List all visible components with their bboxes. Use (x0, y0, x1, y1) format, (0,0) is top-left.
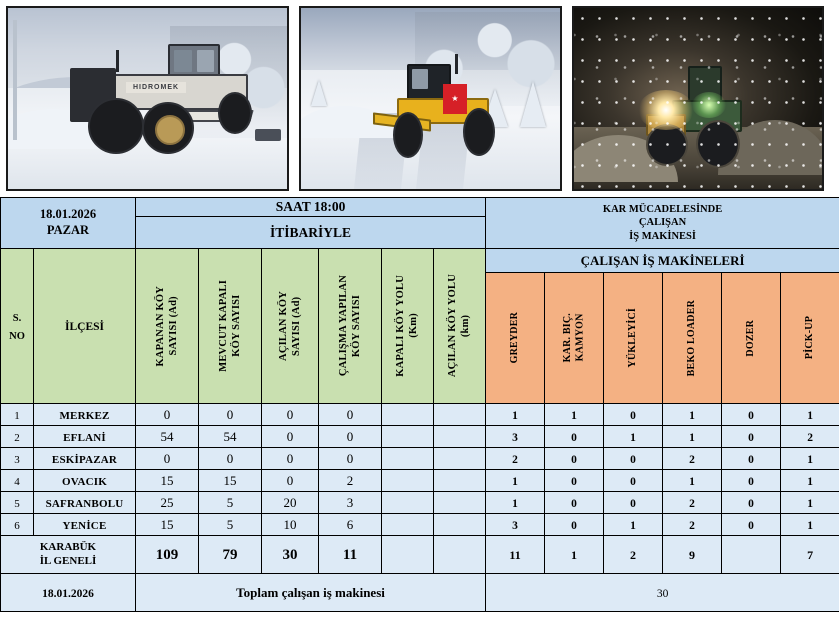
cell-mevcut-kapali-koy: 0 (199, 404, 262, 426)
report-table-wrapper: 18.01.2026 PAZAR SAAT 18:00 KAR MÜCADELE… (0, 197, 839, 612)
cell-calisma-yapilan-koy: 0 (319, 448, 382, 470)
table-row: 5 SAFRANBOLU 25 5 20 3 1 0 0 2 0 1 (1, 492, 839, 514)
date-cell: 18.01.2026 PAZAR (1, 198, 136, 249)
cell-dozer: 0 (722, 514, 781, 536)
total-kapali-koy-yolu (382, 536, 434, 574)
total-label-line2: İL GENELİ (1, 555, 135, 569)
cell-pick-up: 1 (781, 514, 839, 536)
col-header-kapanan-koy-sayisi: KAPANAN KÖY SAYISI (Ad) (136, 249, 199, 404)
cell-greyder: 1 (486, 492, 545, 514)
right-title-line2: ÇALIŞAN (486, 216, 839, 230)
table-row: 3 ESKİPAZAR 0 0 0 0 2 0 0 2 0 1 (1, 448, 839, 470)
front-wheel (218, 92, 252, 134)
col-header-greyder: GREYDER (486, 273, 545, 404)
cell-greyder: 3 (486, 514, 545, 536)
total-label-line1: KARABÜK (1, 541, 135, 555)
cell-ilce: OVACIK (34, 470, 136, 492)
cell-pick-up: 1 (781, 492, 839, 514)
cell-kar-bic-kamyon: 0 (545, 448, 604, 470)
cell-kapali-koy-yolu (382, 470, 434, 492)
machines-group-label-cell: ÇALIŞAN İŞ MAKİNELERİ (486, 249, 839, 273)
distant-vehicle (255, 129, 281, 141)
photo-yellow-grader-snowy-forest-road: ★ (299, 6, 562, 191)
total-pick-up: 7 (781, 536, 839, 574)
cell-beko-loader: 1 (663, 404, 722, 426)
cell-dozer: 0 (722, 426, 781, 448)
cell-dozer: 0 (722, 404, 781, 426)
cell-sno: 4 (1, 470, 34, 492)
col-header-kar-bic-kamyon: KAR. BIÇ. KAMYON (545, 273, 604, 404)
cell-kar-bic-kamyon: 0 (545, 470, 604, 492)
cell-yukleyici: 0 (604, 470, 663, 492)
cell-acilan-koy-yolu (434, 514, 486, 536)
total-acilan-koy: 30 (262, 536, 319, 574)
cell-kar-bic-kamyon: 0 (545, 514, 604, 536)
total-kar-bic-kamyon: 1 (545, 536, 604, 574)
total-calisma-yapilan-koy: 11 (319, 536, 382, 574)
cell-ilce: YENİCE (34, 514, 136, 536)
report-page: HIDROMEK (0, 0, 839, 630)
total-mevcut-kapali-koy: 79 (199, 536, 262, 574)
col-header-dozer: DOZER (722, 273, 781, 404)
cell-sno: 2 (1, 426, 34, 448)
cell-yukleyici: 0 (604, 448, 663, 470)
report-date: 18.01.2026 (1, 207, 135, 223)
col-header-kapali-koy-yolu-km: KAPALI KÖY YOLU (Km) (382, 249, 434, 404)
cell-calisma-yapilan-koy: 0 (319, 404, 382, 426)
total-label-cell: KARABÜK İL GENELİ (1, 536, 136, 574)
cell-kapanan-koy: 25 (136, 492, 199, 514)
cell-pick-up: 1 (781, 448, 839, 470)
cell-beko-loader: 2 (663, 514, 722, 536)
exhaust-stack (116, 50, 119, 72)
cell-acilan-koy-yolu (434, 404, 486, 426)
cell-kapali-koy-yolu (382, 404, 434, 426)
cell-kapanan-koy: 15 (136, 514, 199, 536)
cell-dozer: 0 (722, 470, 781, 492)
cab-window-right (197, 50, 214, 72)
as-of-label: İTİBARİYLE (270, 225, 351, 240)
cell-kar-bic-kamyon: 1 (545, 404, 604, 426)
cell-mevcut-kapali-koy: 15 (199, 470, 262, 492)
as-of-cell: İTİBARİYLE (136, 217, 486, 249)
right-title-cell: KAR MÜCADELESİNDE ÇALIŞAN İŞ MAKİNESİ (486, 198, 839, 249)
photo-loader-working-night-snowstorm (572, 6, 824, 191)
time-cell: SAAT 18:00 (136, 198, 486, 217)
cell-kapali-koy-yolu (382, 448, 434, 470)
cell-greyder: 1 (486, 404, 545, 426)
grader-machine: ★ (387, 54, 497, 156)
cell-kar-bic-kamyon: 0 (545, 492, 604, 514)
cell-ilce: MERKEZ (34, 404, 136, 426)
cell-kapanan-koy: 15 (136, 470, 199, 492)
cell-beko-loader: 1 (663, 470, 722, 492)
total-row: KARABÜK İL GENELİ 109 79 30 11 11 1 2 9 … (1, 536, 839, 574)
cell-sno: 5 (1, 492, 34, 514)
cell-yukleyici: 0 (604, 492, 663, 514)
cell-acilan-koy-yolu (434, 470, 486, 492)
cell-mevcut-kapali-koy: 54 (199, 426, 262, 448)
cell-greyder: 2 (486, 448, 545, 470)
report-day: PAZAR (1, 223, 135, 239)
footer-value-cell: 30 (486, 574, 839, 612)
cell-calisma-yapilan-koy: 3 (319, 492, 382, 514)
cell-sno: 6 (1, 514, 34, 536)
cab-window (412, 69, 428, 89)
table-row: 4 OVACIK 15 15 0 2 1 0 0 1 0 1 (1, 470, 839, 492)
cell-mevcut-kapali-koy: 0 (199, 448, 262, 470)
cell-mevcut-kapali-koy: 5 (199, 492, 262, 514)
table-row: 1 MERKEZ 0 0 0 0 1 1 0 1 0 1 (1, 404, 839, 426)
col-header-mevcut-kapali-koy-sayisi: MEVCUT KAPALI KÖY SAYISI (199, 249, 262, 404)
cell-kapali-koy-yolu (382, 514, 434, 536)
cell-sno: 3 (1, 448, 34, 470)
cell-greyder: 3 (486, 426, 545, 448)
rear-wheel-left (88, 98, 144, 154)
cell-acilan-koy: 0 (262, 404, 319, 426)
cell-mevcut-kapali-koy: 5 (199, 514, 262, 536)
cell-sno: 1 (1, 404, 34, 426)
cell-yukleyici: 1 (604, 514, 663, 536)
wheel-hub (155, 115, 185, 145)
table-row: 6 YENİCE 15 5 10 6 3 0 1 2 0 1 (1, 514, 839, 536)
snow-operations-table: 18.01.2026 PAZAR SAAT 18:00 KAR MÜCADELE… (0, 197, 839, 612)
cab-window-left (174, 50, 192, 72)
cell-calisma-yapilan-koy: 2 (319, 470, 382, 492)
cell-acilan-koy-yolu (434, 426, 486, 448)
cell-beko-loader: 2 (663, 492, 722, 514)
table-row: 2 EFLANİ 54 54 0 0 3 0 1 1 0 2 (1, 426, 839, 448)
total-kapanan-koy: 109 (136, 536, 199, 574)
col-header-calisma-yapilan-koy-sayisi: ÇALIŞMA YAPILAN KÖY SAYISI (319, 249, 382, 404)
cell-yukleyici: 0 (604, 404, 663, 426)
cell-kapanan-koy: 54 (136, 426, 199, 448)
total-yukleyici: 2 (604, 536, 663, 574)
total-dozer (722, 536, 781, 574)
photo-strip: HIDROMEK (0, 0, 839, 197)
conifer-tree (520, 81, 546, 127)
photo-grader-clearing-snow-daytime: HIDROMEK (6, 6, 289, 191)
time-label: SAAT 18:00 (276, 199, 346, 214)
cell-acilan-koy: 10 (262, 514, 319, 536)
cell-beko-loader: 2 (663, 448, 722, 470)
col-header-ilce: İLÇESİ (34, 249, 136, 404)
col-header-yukleyici: YÜKLEYİCİ (604, 273, 663, 404)
front-wheel-left (393, 112, 423, 158)
turkish-flag: ★ (443, 84, 467, 114)
cell-beko-loader: 1 (663, 426, 722, 448)
rear-wheel-right (142, 102, 194, 154)
cell-kapanan-koy: 0 (136, 448, 199, 470)
cell-kapali-koy-yolu (382, 426, 434, 448)
cell-greyder: 1 (486, 470, 545, 492)
footer-date-cell: 18.01.2026 (1, 574, 136, 612)
col-header-pick-up: PİCK-UP (781, 273, 839, 404)
col-header-sno: S. NO (1, 249, 34, 404)
machines-group-row: S. NO İLÇESİ KAPANAN KÖY SAYISI (Ad) MEV… (1, 249, 839, 273)
cell-ilce: ESKİPAZAR (34, 448, 136, 470)
utility-pole (13, 20, 17, 140)
cell-acilan-koy-yolu (434, 492, 486, 514)
footer-row: 18.01.2026 Toplam çalışan iş makinesi 30 (1, 574, 839, 612)
cell-acilan-koy-yolu (434, 448, 486, 470)
cell-calisma-yapilan-koy: 6 (319, 514, 382, 536)
cell-pick-up: 1 (781, 404, 839, 426)
grader-machine: HIDROMEK (64, 44, 254, 154)
cell-dozer: 0 (722, 492, 781, 514)
cell-acilan-koy: 0 (262, 426, 319, 448)
cell-dozer: 0 (722, 448, 781, 470)
total-greyder: 11 (486, 536, 545, 574)
cell-acilan-koy: 20 (262, 492, 319, 514)
machine-brand-label: HIDROMEK (126, 82, 186, 93)
cell-kapanan-koy: 0 (136, 404, 199, 426)
front-wheel-right (463, 108, 495, 156)
col-header-acilan-koy-yolu-km: AÇILAN KÖY YOLU (km) (434, 249, 486, 404)
cell-kapali-koy-yolu (382, 492, 434, 514)
cell-ilce: SAFRANBOLU (34, 492, 136, 514)
exhaust-stack (455, 54, 458, 74)
cell-pick-up: 1 (781, 470, 839, 492)
conifer-tree (311, 80, 327, 106)
right-title-line3: İŞ MAKİNESİ (486, 230, 839, 244)
cell-ilce: EFLANİ (34, 426, 136, 448)
cell-acilan-koy: 0 (262, 470, 319, 492)
cell-acilan-koy: 0 (262, 448, 319, 470)
right-title-line1: KAR MÜCADELESİNDE (486, 203, 839, 217)
footer-label-cell: Toplam çalışan iş makinesi (136, 574, 486, 612)
cell-kar-bic-kamyon: 0 (545, 426, 604, 448)
col-header-beko-loader: BEKO LOADER (663, 273, 722, 404)
falling-snow-overlay (574, 8, 822, 189)
total-beko-loader: 9 (663, 536, 722, 574)
total-acilan-koy-yolu (434, 536, 486, 574)
cell-yukleyici: 1 (604, 426, 663, 448)
col-header-acilan-koy-sayisi: AÇILAN KÖY SAYISI (Ad) (262, 249, 319, 404)
header-row-1: 18.01.2026 PAZAR SAAT 18:00 KAR MÜCADELE… (1, 198, 839, 217)
cell-pick-up: 2 (781, 426, 839, 448)
cell-calisma-yapilan-koy: 0 (319, 426, 382, 448)
